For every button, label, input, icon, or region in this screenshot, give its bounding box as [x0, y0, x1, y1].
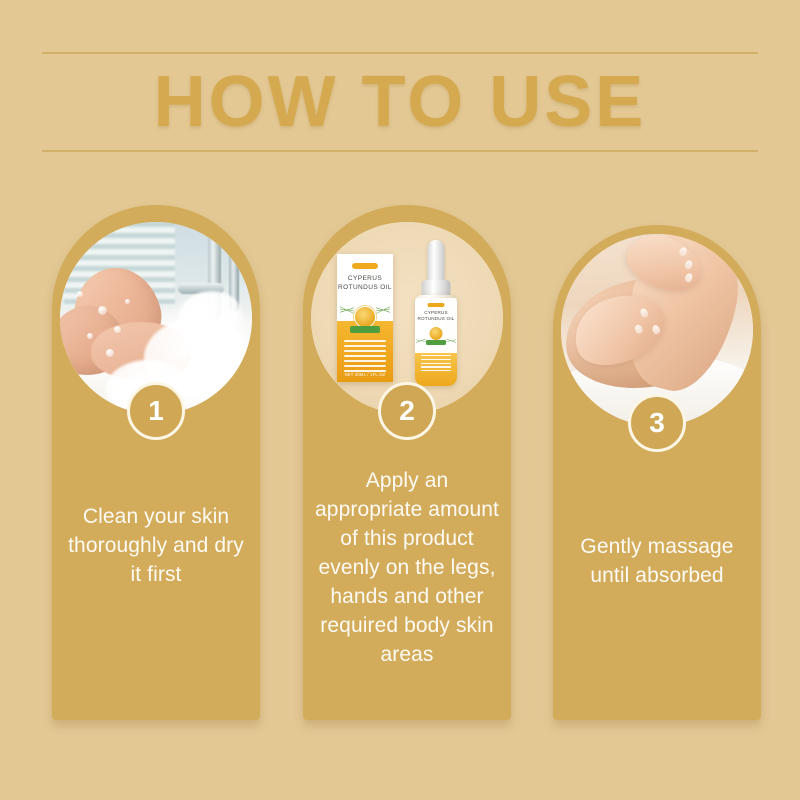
bottle-cap [428, 240, 445, 284]
box-net-content: NET 30ML / 1FL.OZ [337, 372, 393, 377]
fingernail [651, 324, 661, 335]
product-box: CYPERUS ROTUNDUS OIL NET 30ML / 1FL.OZ [337, 254, 393, 382]
step-number-badge-2: 2 [378, 382, 436, 440]
fingernail [678, 246, 688, 257]
step-number-badge-3: 3 [628, 394, 686, 452]
step-description-1: Clean your skin thoroughly and dry it fi… [61, 414, 251, 615]
steps-container: 1 Clean your skin thoroughly and dry it … [0, 0, 800, 800]
bubble [106, 349, 114, 357]
fingernail [684, 259, 694, 270]
bottle-glass: CYPERUS ROTUNDUS OIL [415, 295, 457, 386]
box-title: CYPERUS ROTUNDUS OIL [337, 274, 393, 292]
foam-mass-3 [179, 291, 244, 345]
box-certification-badge [350, 326, 380, 333]
step-card-2: CYPERUS ROTUNDUS OIL NET 30ML / 1FL.OZ [303, 205, 511, 720]
fingernail [684, 272, 694, 283]
step-description-3: Gently massage until absorbed [562, 426, 752, 616]
bottle-leaf-left-icon [416, 328, 426, 352]
box-leaf-right-icon [376, 292, 390, 326]
step-card-1: 1 Clean your skin thoroughly and dry it … [52, 205, 260, 720]
step-card-3: 3 Gently massage until absorbed [553, 225, 761, 720]
box-leaf-left-icon [340, 292, 354, 326]
bottle-title: CYPERUS ROTUNDUS OIL [415, 310, 457, 323]
bottle-label: CYPERUS ROTUNDUS OIL [415, 298, 457, 353]
bubble [114, 326, 121, 333]
box-feature-lines [344, 340, 386, 375]
step-number-badge-1: 1 [127, 382, 185, 440]
bottle-certification-badge [426, 340, 446, 345]
bottle-brand-mark [428, 303, 445, 307]
box-brand-mark [352, 263, 378, 269]
fingernail [639, 308, 649, 319]
box-emblem-icon [354, 306, 376, 328]
bottle-leaf-right-icon [446, 328, 456, 352]
fingernail [633, 324, 643, 335]
dropper-bottle: CYPERUS ROTUNDUS OIL [411, 240, 461, 386]
step-description-2: Apply an appropriate amount of this prod… [312, 414, 502, 695]
bottle-emblem-icon [429, 326, 444, 341]
bottle-feature-lines [421, 355, 451, 374]
